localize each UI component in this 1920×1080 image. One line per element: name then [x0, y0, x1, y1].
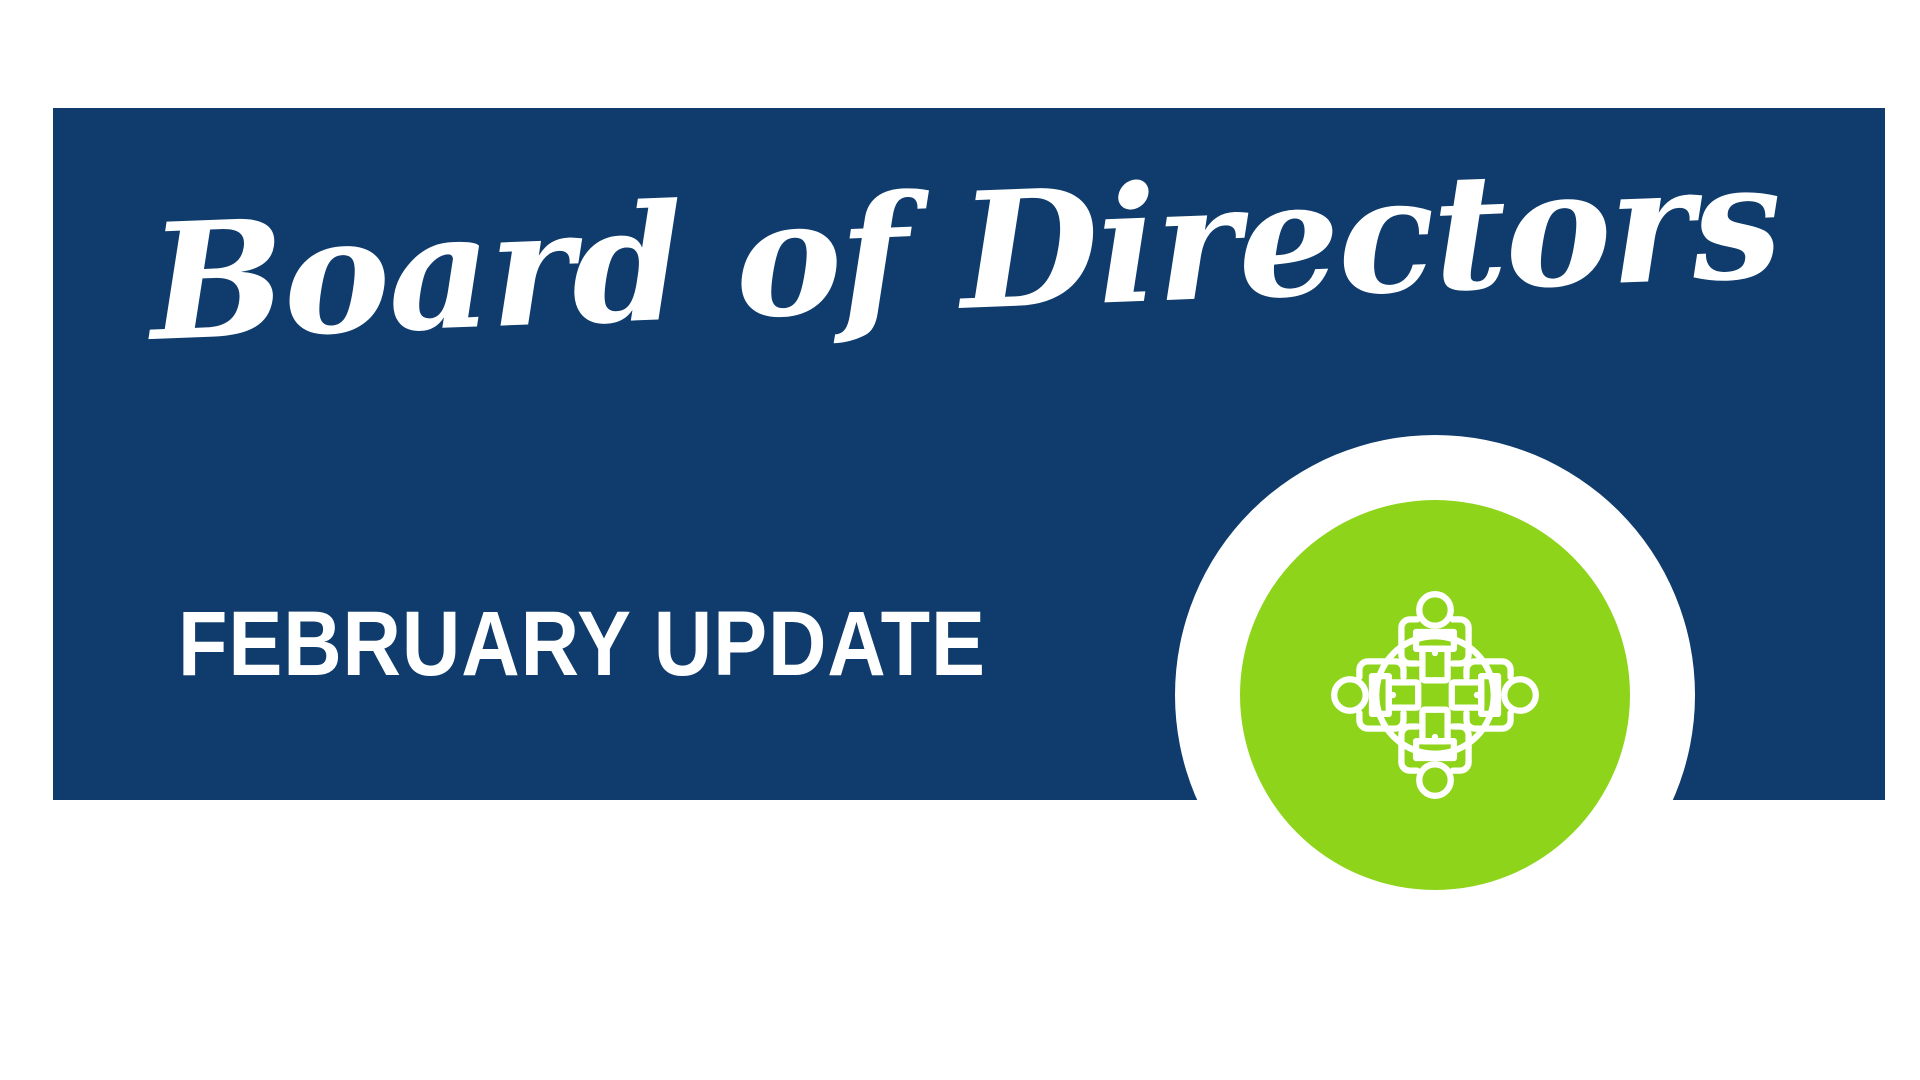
board-meeting-round-table-icon: [1330, 590, 1540, 800]
banner-subtitle: FEBRUARY UPDATE: [178, 592, 986, 696]
badge: [1175, 435, 1695, 955]
board-of-directors-banner: Board of Directors FEBRUARY UPDATE: [0, 0, 1920, 1080]
